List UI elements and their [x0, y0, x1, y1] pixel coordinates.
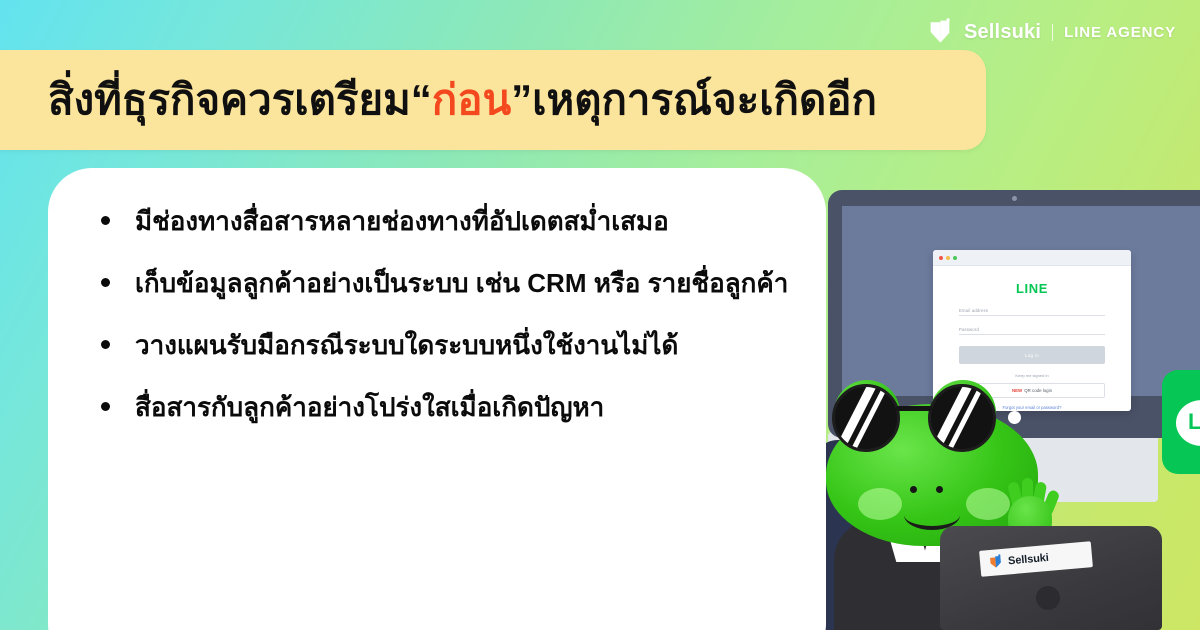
list-item: มีช่องทางสื่อสารหลายช่องทางที่อัปเดตสม่ำ…: [83, 200, 793, 242]
maximize-icon[interactable]: [953, 256, 957, 260]
laptop: Sellsuki: [940, 526, 1162, 630]
password-field[interactable]: Password: [959, 327, 1105, 335]
content-card: มีช่องทางสื่อสารหลายช่องทางที่อัปเดตสม่ำ…: [48, 168, 826, 630]
title-banner: สิ่งที่ธุรกิจควรเตรียม “ ก่อน ” เหตุการณ…: [0, 50, 986, 150]
sellsuki-checkmark-logo-icon: [929, 18, 955, 46]
webcam-dot-icon: [1012, 196, 1017, 201]
list-item: สื่อสารกับลูกค้าอย่างโปร่งใสเมื่อเกิดปัญ…: [83, 386, 793, 428]
title-quote-open: “: [411, 76, 432, 124]
cheek-highlight-right: [966, 488, 1010, 520]
sunglasses-icon: [832, 384, 900, 452]
frog-mascot-character: Sellsuki: [812, 378, 1142, 630]
title-part-2: เหตุการณ์จะเกิดอีก: [532, 67, 877, 133]
nostril-right: [936, 486, 943, 493]
cheek-highlight-left: [858, 488, 902, 520]
line-app-icon[interactable]: L: [1162, 370, 1200, 474]
sellsuki-sticker: Sellsuki: [979, 541, 1093, 577]
list-item-text: เก็บข้อมูลลูกค้าอย่างเป็นระบบ เช่น CRM ห…: [135, 268, 788, 298]
minimize-icon[interactable]: [946, 256, 950, 260]
brand-logo: Sellsuki LINE AGENCY: [929, 18, 1176, 46]
monitor-screen: LINE Email address Password Log in Keep …: [842, 206, 1200, 396]
email-field-label: Email address: [959, 308, 1105, 313]
bullet-list: มีช่องทางสื่อสารหลายช่องทางที่อัปเดตสม่ำ…: [83, 200, 793, 448]
sellsuki-sticker-text: Sellsuki: [1008, 552, 1050, 568]
line-bubble-letter: L: [1188, 411, 1200, 433]
title-quote-close: ”: [511, 76, 532, 124]
bullet-dot-icon: [101, 278, 110, 287]
email-field[interactable]: Email address: [959, 308, 1105, 316]
page-title: สิ่งที่ธุรกิจควรเตรียม “ ก่อน ” เหตุการณ…: [0, 50, 986, 150]
bullet-dot-icon: [101, 340, 110, 349]
bullet-dot-icon: [101, 216, 110, 225]
laptop-hinge-dot: [1036, 586, 1060, 610]
bullet-dot-icon: [101, 402, 110, 411]
password-field-label: Password: [959, 327, 1105, 332]
list-item-text: มีช่องทางสื่อสารหลายช่องทางที่อัปเดตสม่ำ…: [135, 206, 669, 236]
title-highlight: ก่อน: [432, 67, 511, 133]
sunglasses-bridge: [896, 406, 932, 411]
list-item-text: วางแผนรับมือกรณีระบบใดระบบหนึ่งใช้งานไม่…: [135, 330, 678, 360]
list-item: วางแผนรับมือกรณีระบบใดระบบหนึ่งใช้งานไม่…: [83, 324, 793, 366]
brand-name: Sellsuki: [964, 22, 1041, 42]
list-item: เก็บข้อมูลลูกค้าอย่างเป็นระบบ เช่น CRM ห…: [83, 262, 793, 304]
login-button[interactable]: Log in: [959, 346, 1105, 364]
browser-titlebar: [933, 250, 1131, 266]
poster-canvas: LINE Email address Password Log in Keep …: [0, 0, 1200, 630]
title-part-1: สิ่งที่ธุรกิจควรเตรียม: [48, 67, 411, 133]
sellsuki-sticker-logo-icon: [987, 554, 1004, 571]
line-wordmark: LINE: [959, 281, 1105, 296]
sunglasses-icon: [928, 384, 996, 452]
logo-divider: [1052, 24, 1053, 41]
brand-tagline: LINE AGENCY: [1064, 25, 1176, 40]
nostril-left: [910, 486, 917, 493]
list-item-text: สื่อสารกับลูกค้าอย่างโปร่งใสเมื่อเกิดปัญ…: [135, 392, 604, 422]
close-icon[interactable]: [939, 256, 943, 260]
